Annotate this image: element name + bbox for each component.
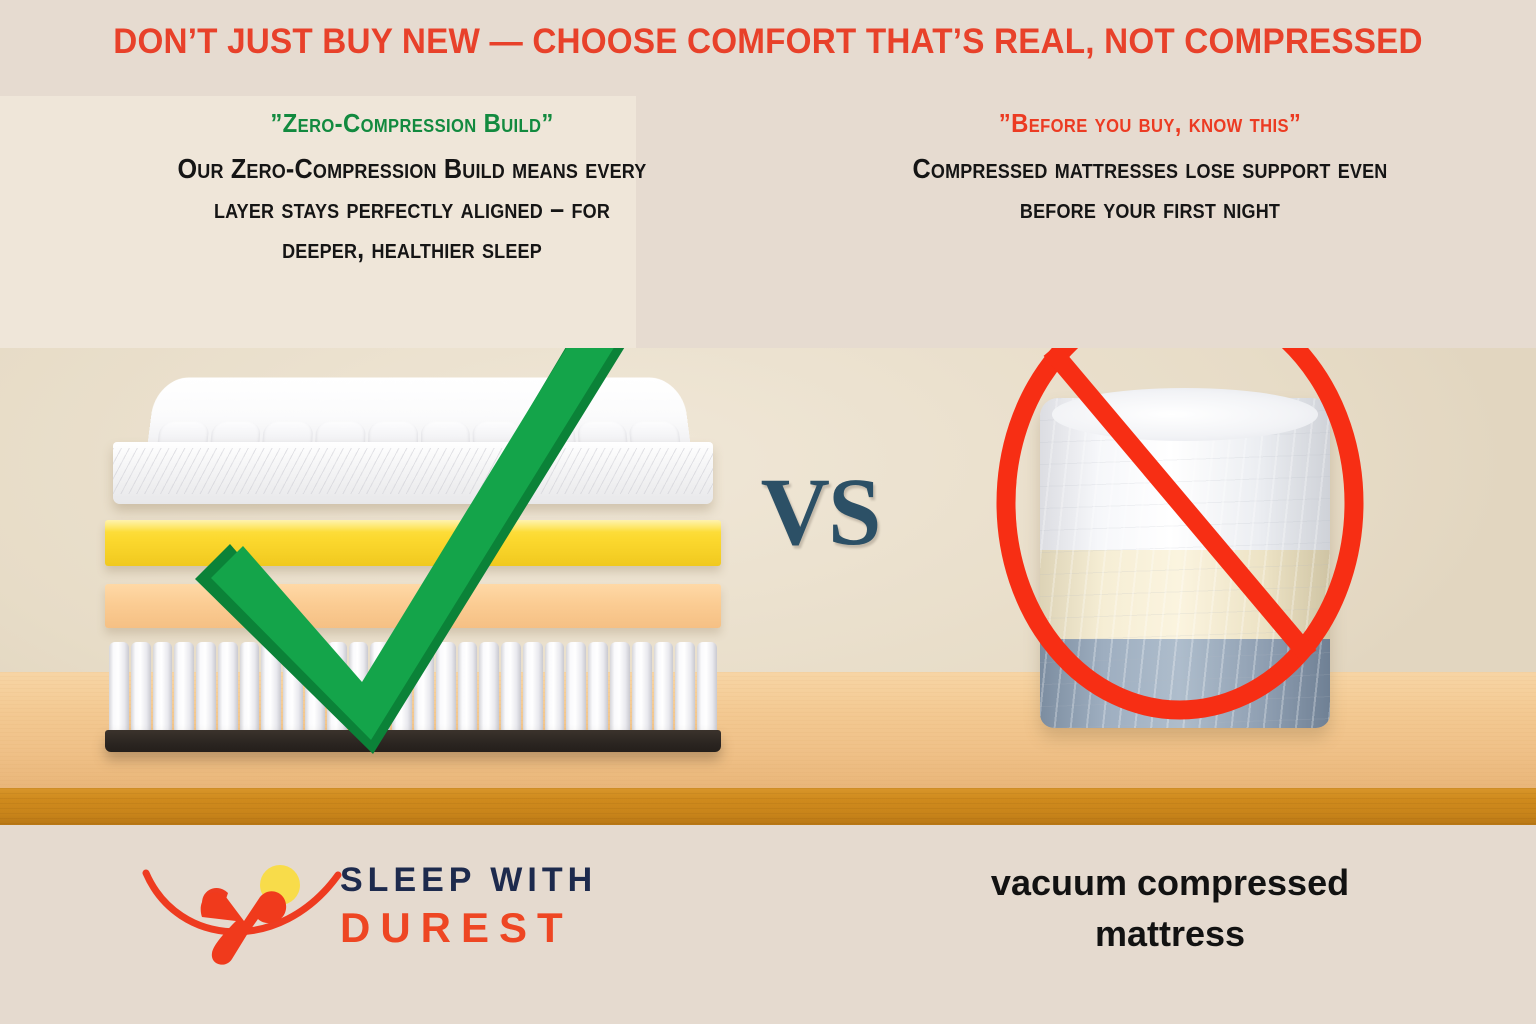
roll-plastic-wrap [1040,398,1330,728]
roll-top-ellipse [1052,388,1319,441]
right-kicker: ”Before you buy, know this” [828,108,1472,139]
logo-line-durest: DUREST [340,904,640,952]
footer-bar: SLEEP WITH DUREST vacuum compressed matt… [0,825,1536,1024]
compressed-mattress-roll [1040,398,1330,728]
logo-line-sleep-with: SLEEP WITH [340,861,640,900]
mattress-base-foundation [105,730,721,752]
mattress-layer-pillow-top [113,372,713,504]
infographic-canvas: DON’T JUST BUY NEW — CHOOSE COMFORT THAT… [0,0,1536,1024]
roll-body [1040,398,1330,728]
left-body-text: Our Zero-Compression Build means every l… [97,149,727,268]
page-headline: DON’T JUST BUY NEW — CHOOSE COMFORT THAT… [38,22,1497,62]
mattress-layer-pocket-springs [107,640,719,736]
logo-wordmark: SLEEP WITH DUREST [340,861,640,952]
product-comparison-scene: VS [0,348,1536,825]
mattress-top-deck [147,377,691,448]
layered-mattress-illustration [105,372,725,764]
brand-logo[interactable]: SLEEP WITH DUREST [140,853,640,973]
left-text-column: ”Zero-Compression Build” Our Zero-Compre… [62,108,762,268]
versus-label: VS [740,456,900,567]
right-body-text: Compressed mattresses lose support even … [835,149,1465,229]
right-text-column: ”Before you buy, know this” Compressed m… [800,108,1500,229]
table-front-edge [0,788,1536,825]
mattress-layer-yellow-foam [105,520,721,566]
left-kicker: ”Zero-Compression Build” [90,108,734,139]
right-product-caption: vacuum compressed mattress [840,857,1500,959]
mattress-layer-orange-foam [105,584,721,628]
person-in-hammock-with-sun-icon [140,855,350,965]
mattress-top-side-panel [113,442,713,504]
